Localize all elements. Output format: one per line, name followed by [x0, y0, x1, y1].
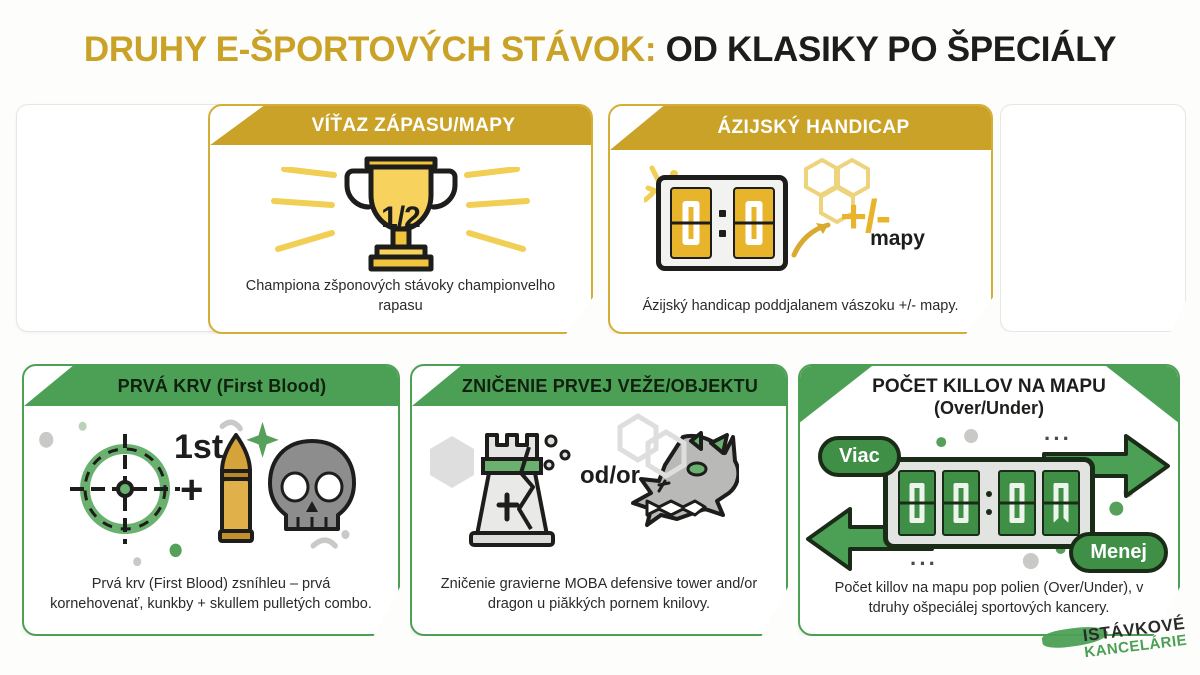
card-asian-handicap-header: ÁZIJSKÝ HANDICAP — [610, 106, 991, 150]
trophy-ratio-label: 1/2 — [381, 201, 420, 235]
curved-arrow-icon — [790, 207, 836, 261]
score-colon-icon — [719, 210, 726, 237]
card-kills-header-ribbon: POČET KILLOV NA MAPU (Over/Under) — [800, 366, 1178, 428]
card-asian-handicap-art: +/- mapy — [610, 150, 991, 297]
score-digit-right — [733, 187, 775, 259]
card-asian-handicap[interactable]: ÁZIJSKÝ HANDICAP — [608, 104, 993, 334]
card-first-tower-art: od/or — [412, 406, 786, 575]
card-match-winner-header: VÍŤAZ ZÁPASU/MAPY — [210, 106, 591, 145]
pill-under-label[interactable]: Menej — [1069, 532, 1168, 573]
score-digit-left — [670, 187, 712, 259]
od-or-label: od/or — [580, 462, 640, 490]
sparkle-rays-right-icon — [457, 167, 535, 267]
card-first-tower-header: ZNIČENIE PRVEJ VEŽE/OBJEKTU — [412, 366, 786, 406]
infographic-stage: DRUHY E-ŠPORTOVÝCH STÁVOK: OD KLASIKY PO… — [0, 0, 1200, 675]
card-match-winner-desc: Championa zšponových stávoky championvel… — [210, 277, 591, 332]
card-match-winner[interactable]: VÍŤAZ ZÁPASU/MAPY — [208, 104, 593, 334]
kill-digit-3 — [998, 470, 1036, 536]
pill-over-label[interactable]: Viac — [818, 436, 901, 477]
page-title: DRUHY E-ŠPORTOVÝCH STÁVOK: OD KLASIKY PO… — [0, 30, 1200, 70]
card-first-tower[interactable]: ZNIČENIE PRVEJ VEŽE/OBJEKTU — [410, 364, 788, 636]
scoreboard-icon — [883, 457, 1095, 549]
card-asian-handicap-desc: Ázijský handicap poddjalanem vászoku +/-… — [610, 297, 991, 332]
card-first-blood-art: 1st + — [24, 406, 398, 575]
kill-digit-2 — [942, 470, 980, 536]
mapy-label: mapy — [870, 227, 925, 251]
kill-digit-1 — [898, 470, 936, 536]
confetti-decoration-icon — [24, 406, 398, 575]
kill-digit-4 — [1042, 470, 1080, 536]
card-first-blood-desc: Prvá krv (First Blood) zsníhleu – prvá k… — [24, 575, 398, 634]
ghost-card-right — [1000, 104, 1186, 332]
kill-colon-icon — [986, 491, 992, 515]
page-title-gold: DRUHY E-ŠPORTOVÝCH STÁVOK: — [84, 30, 656, 69]
card-kills-header-line2: (Over/Under) — [934, 398, 1044, 418]
honeycomb-decoration-icon — [422, 432, 482, 512]
card-kills-header-line1: POČET KILLOV NA MAPU — [872, 376, 1106, 397]
card-kills-over-under[interactable]: POČET KILLOV NA MAPU (Over/Under) — [798, 364, 1180, 636]
card-kills-art: Viac Menej ··· ··· — [800, 428, 1178, 579]
card-first-tower-desc: Zničenie gravieгne MOBA defensive tower … — [412, 575, 786, 634]
page-title-dark: OD KLASIKY PO ŠPECIÁLY — [666, 30, 1116, 69]
ghost-card-left — [16, 104, 241, 332]
card-match-winner-art: 1/2 — [210, 145, 591, 277]
card-first-blood[interactable]: PRVÁ KRV (First Blood) 1st + — [22, 364, 400, 636]
sparkle-rays-left-icon — [266, 167, 344, 267]
scoreboard-icon — [656, 175, 788, 271]
card-first-blood-header: PRVÁ KRV (First Blood) — [24, 366, 398, 406]
